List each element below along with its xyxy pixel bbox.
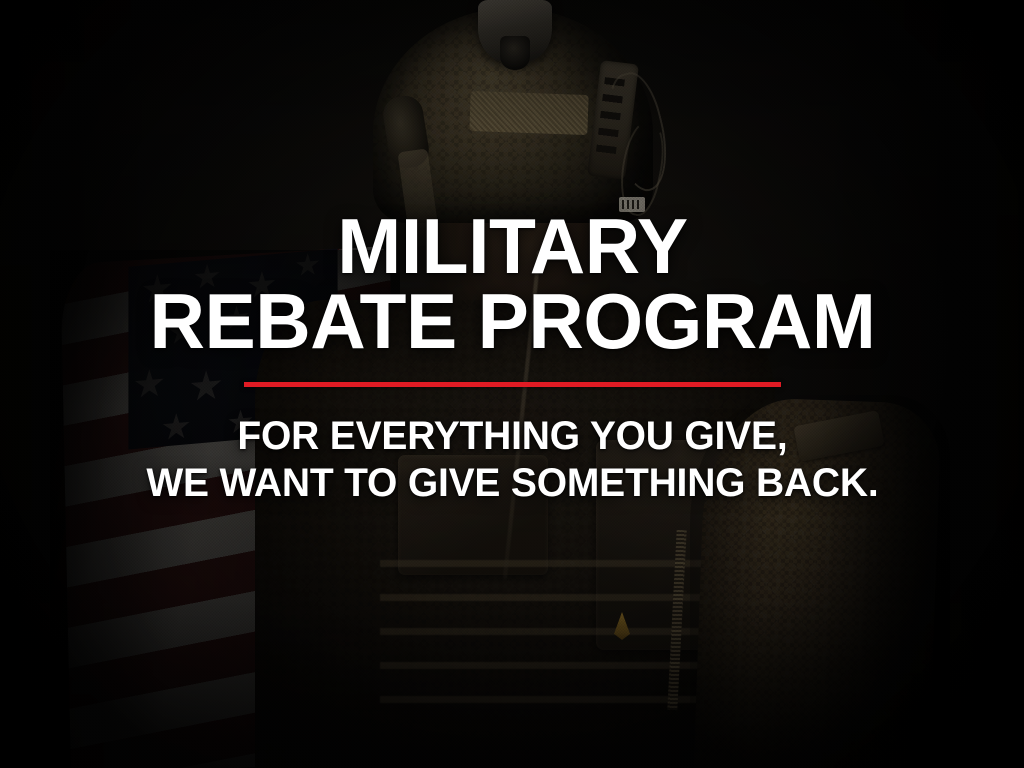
subheadline-line-2: WE WANT TO GIVE SOMETHING BACK. bbox=[146, 460, 878, 507]
subheadline: FOR EVERYTHING YOU GIVE, WE WANT TO GIVE… bbox=[146, 413, 878, 507]
text-overlay: MILITARY REBATE PROGRAM FOR EVERYTHING Y… bbox=[0, 0, 1024, 768]
red-divider-rule bbox=[244, 382, 781, 387]
subheadline-line-1: FOR EVERYTHING YOU GIVE, bbox=[146, 413, 878, 460]
military-rebate-banner: MILITARY REBATE PROGRAM FOR EVERYTHING Y… bbox=[0, 0, 1024, 768]
headline: MILITARY REBATE PROGRAM bbox=[149, 209, 875, 360]
headline-line-2: REBATE PROGRAM bbox=[149, 284, 875, 359]
